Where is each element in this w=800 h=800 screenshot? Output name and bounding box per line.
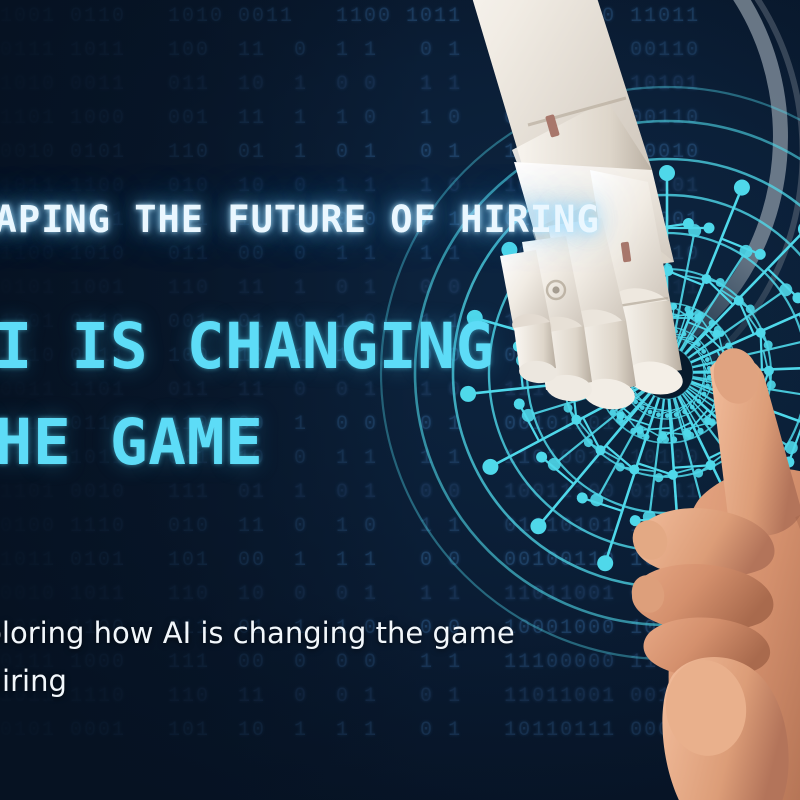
poster-text-block: SHAPING THE FUTURE OF HIRING AI IS CHANG… [0,0,520,800]
subtitle-line-2: in hiring [0,657,515,705]
human-hand [588,330,800,800]
subtitle-line-1: Exploring how AI is changing the game [0,616,515,650]
headline-line-1: AI IS CHANGING [0,310,494,383]
headline-line-2: THE GAME [0,412,494,474]
eyebrow-heading: SHAPING THE FUTURE OF HIRING [0,198,600,241]
subtitle: Exploring how AI is changing the game in… [0,609,515,705]
main-headline: AI IS CHANGING THE GAME [0,316,494,473]
poster-canvas: 1001 0110 1010 0011 1100 1011 01101010 1… [0,0,800,800]
silver-arc [560,0,800,370]
